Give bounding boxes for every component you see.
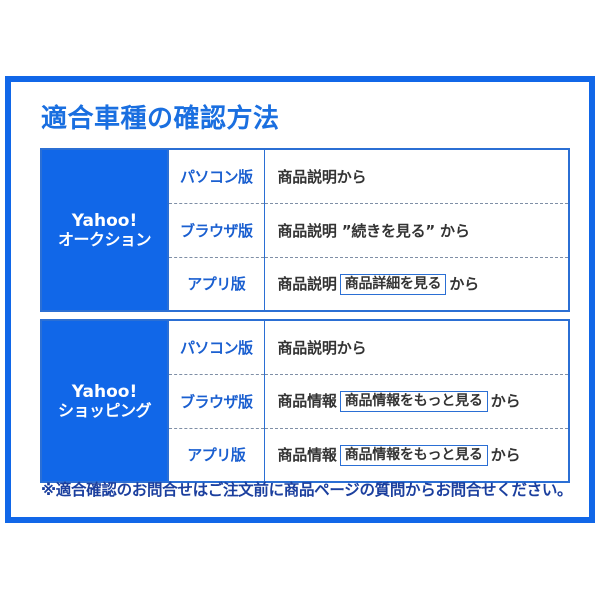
description-cell: 商品説明から	[264, 320, 569, 374]
brand-name-line1: Yahoo!	[42, 382, 167, 402]
inline-button-label[interactable]: 商品詳細を見る	[340, 274, 447, 295]
description-text-before: 商品情報	[278, 446, 337, 464]
platform-label-app: アプリ版	[168, 428, 264, 482]
platform-label-browser: ブラウザ版	[168, 374, 264, 428]
platform-label-pc: パソコン版	[168, 149, 264, 203]
description-text-after: から	[491, 446, 521, 464]
brand-name-line1: Yahoo!	[42, 211, 167, 231]
description-cell: 商品情報商品情報をもっと見るから	[264, 428, 569, 482]
yahoo-shopping-table: Yahoo! ショッピング パソコン版 商品説明から ブラウザ版 商品情報商品情…	[40, 319, 570, 483]
yahoo-auction-table: Yahoo! オークション パソコン版 商品説明から ブラウザ版 商品説明 ”続…	[40, 148, 570, 312]
brand-cell-shopping: Yahoo! ショッピング	[41, 320, 168, 482]
description-text-before: 商品説明	[278, 275, 337, 293]
description-cell: 商品説明から	[264, 149, 569, 203]
description-text: 商品説明から	[278, 168, 367, 186]
description-text: 商品説明 ”続きを見る” から	[278, 222, 470, 240]
page-title: 適合車種の確認方法	[41, 98, 280, 135]
inline-button-label[interactable]: 商品情報をもっと見る	[340, 445, 488, 466]
brand-name-line2: ショッピング	[42, 402, 167, 421]
description-text-before: 商品情報	[278, 392, 337, 410]
description-cell: 商品説明 ”続きを見る” から	[264, 203, 569, 257]
description-cell: 商品説明商品詳細を見るから	[264, 257, 569, 311]
description-text-after: から	[491, 392, 521, 410]
blue-outer-frame: 適合車種の確認方法 Yahoo! オークション パソコン版 商品説明から ブラウ…	[5, 76, 595, 523]
platform-label-pc: パソコン版	[168, 320, 264, 374]
platform-label-browser: ブラウザ版	[168, 203, 264, 257]
brand-name-line2: オークション	[42, 231, 167, 250]
white-panel: 適合車種の確認方法 Yahoo! オークション パソコン版 商品説明から ブラウ…	[11, 82, 589, 517]
inline-button-label[interactable]: 商品情報をもっと見る	[340, 391, 488, 412]
platform-label-app: アプリ版	[168, 257, 264, 311]
description-cell: 商品情報商品情報をもっと見るから	[264, 374, 569, 428]
table-row: Yahoo! オークション パソコン版 商品説明から	[41, 149, 569, 203]
description-text: 商品説明から	[278, 339, 367, 357]
description-text-after: から	[449, 275, 479, 293]
table-row: Yahoo! ショッピング パソコン版 商品説明から	[41, 320, 569, 374]
brand-cell-auction: Yahoo! オークション	[41, 149, 168, 311]
footer-note: ※適合確認のお問合せはご注文前に商品ページの質問からお問合せください。	[41, 478, 572, 500]
